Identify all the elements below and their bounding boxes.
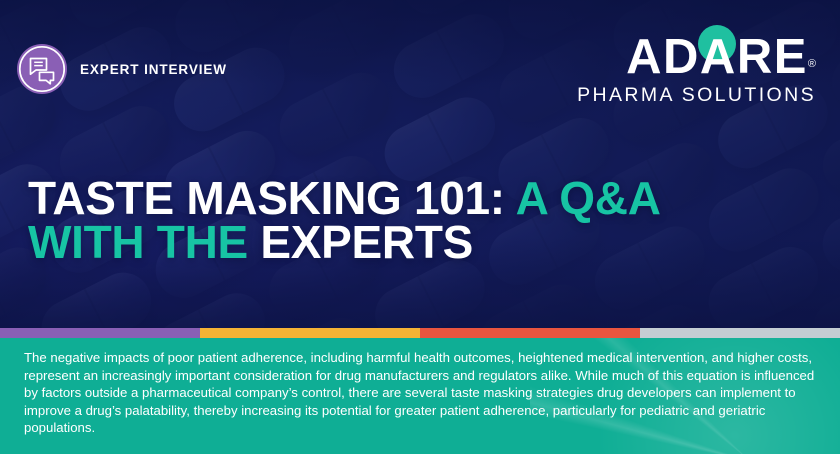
- divider-segment-gray: [640, 328, 840, 338]
- color-divider-bar: [0, 328, 840, 338]
- logo-registered-mark: ®: [808, 58, 816, 70]
- adare-logo[interactable]: ADARE® PHARMA SOLUTIONS: [577, 32, 816, 107]
- divider-segment-orange: [200, 328, 420, 338]
- logo-wordmark-row: ADARE®: [626, 32, 816, 82]
- expert-interview-badge: EXPERT INTERVIEW: [17, 44, 227, 94]
- headline-line-2: WITH THE EXPERTS: [28, 220, 661, 264]
- logo-wordmark: ADARE: [626, 30, 808, 84]
- page-title: TASTE MASKING 101: A Q&A WITH THE EXPERT…: [28, 176, 661, 264]
- headline-part-2: A Q&A: [505, 172, 661, 224]
- badge-label: EXPERT INTERVIEW: [80, 62, 227, 77]
- chat-bubbles-icon: [17, 44, 67, 94]
- summary-panel: The negative impacts of poor patient adh…: [0, 338, 840, 454]
- headline-line-1: TASTE MASKING 101: A Q&A: [28, 176, 661, 220]
- hero-section: EXPERT INTERVIEW ADARE® PHARMA SOLUTIONS…: [0, 0, 840, 328]
- headline-part-3: WITH THE: [28, 216, 248, 268]
- summary-text: The negative impacts of poor patient adh…: [0, 338, 840, 437]
- divider-segment-purple: [0, 328, 200, 338]
- logo-tagline: PHARMA SOLUTIONS: [577, 84, 816, 107]
- divider-segment-coral: [420, 328, 640, 338]
- headline-part-4: EXPERTS: [248, 216, 473, 268]
- adare-expert-interview-banner: EXPERT INTERVIEW ADARE® PHARMA SOLUTIONS…: [0, 0, 840, 454]
